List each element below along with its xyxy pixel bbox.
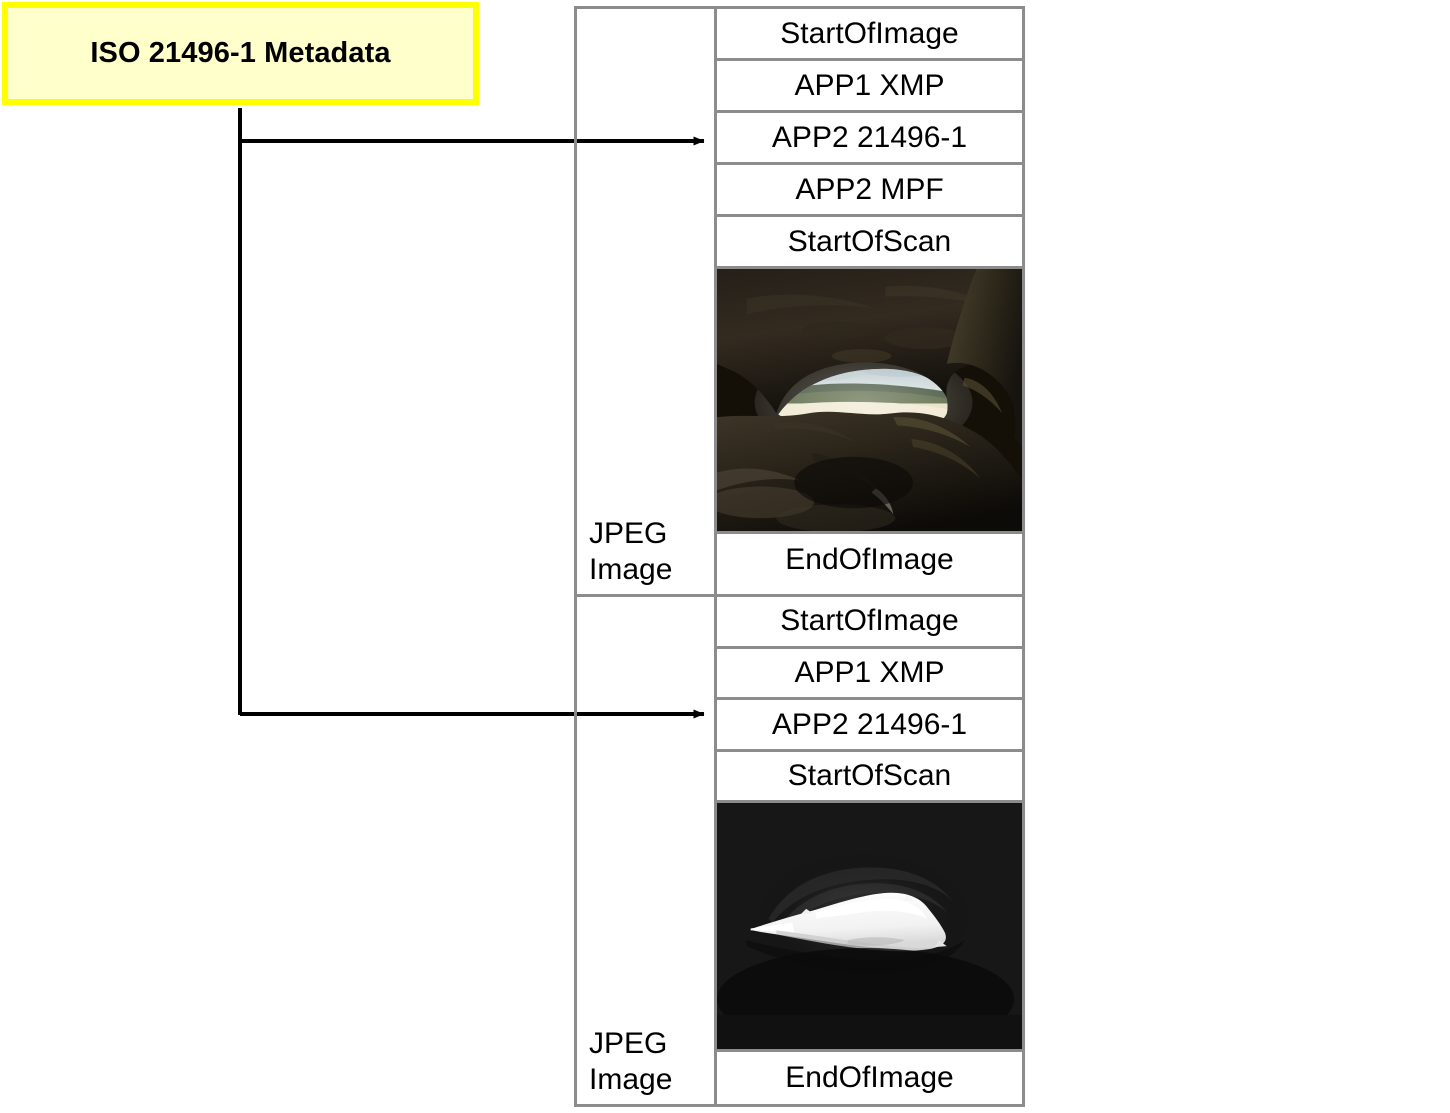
gainmap-image-label-cell: JPEG Image (577, 597, 717, 1104)
jpeg-image-label: JPEG Image (589, 516, 672, 588)
row-label: APP1 XMP (794, 658, 944, 688)
row-start-of-image: StartOfImage (717, 597, 1022, 649)
primary-image-label-cell: JPEG Image (577, 9, 717, 594)
primary-image-block: JPEG Image StartOfImage APP1 XMP APP2 21… (577, 9, 1022, 594)
iso-metadata-box: ISO 21496-1 Metadata (2, 2, 479, 105)
row-start-of-scan: StartOfScan (717, 217, 1022, 269)
row-label: EndOfImage (785, 1063, 953, 1093)
iso-metadata-label: ISO 21496-1 Metadata (90, 37, 390, 70)
row-start-of-image: StartOfImage (717, 9, 1022, 61)
row-app1-xmp: APP1 XMP (717, 649, 1022, 701)
row-label: APP2 21496-1 (772, 123, 967, 153)
row-start-of-scan: StartOfScan (717, 752, 1022, 804)
cave-photo-row (717, 269, 1022, 534)
jpeg-image-label: JPEG Image (589, 1026, 672, 1098)
row-end-of-image: EndOfImage (717, 1052, 1022, 1104)
primary-image-rows: StartOfImage APP1 XMP APP2 21496-1 APP2 … (717, 9, 1022, 594)
gainmap-image-rows: StartOfImage APP1 XMP APP2 21496-1 Start… (717, 597, 1022, 1104)
jpeg-container-table: JPEG Image StartOfImage APP1 XMP APP2 21… (574, 6, 1025, 1107)
row-label: APP1 XMP (794, 71, 944, 101)
cave-photo-thumbnail (717, 269, 1022, 531)
gain-map-thumbnail (717, 803, 1022, 1049)
row-app2-21496-1: APP2 21496-1 (717, 700, 1022, 752)
gainmap-image-block: JPEG Image StartOfImage APP1 XMP APP2 21… (577, 594, 1022, 1104)
diagram-canvas: ISO 21496-1 Metadata JPEG Image StartOfI… (0, 0, 1450, 1113)
row-app1-xmp: APP1 XMP (717, 61, 1022, 113)
row-label: StartOfImage (780, 606, 958, 636)
row-label: StartOfScan (788, 227, 951, 257)
row-app2-mpf: APP2 MPF (717, 165, 1022, 217)
row-label: APP2 21496-1 (772, 710, 967, 740)
gain-map-row (717, 803, 1022, 1052)
row-label: StartOfScan (788, 761, 951, 791)
row-label: StartOfImage (780, 19, 958, 49)
row-label: APP2 MPF (795, 175, 943, 205)
row-end-of-image: EndOfImage (717, 534, 1022, 586)
row-label: EndOfImage (785, 545, 953, 575)
row-app2-21496-1: APP2 21496-1 (717, 113, 1022, 165)
